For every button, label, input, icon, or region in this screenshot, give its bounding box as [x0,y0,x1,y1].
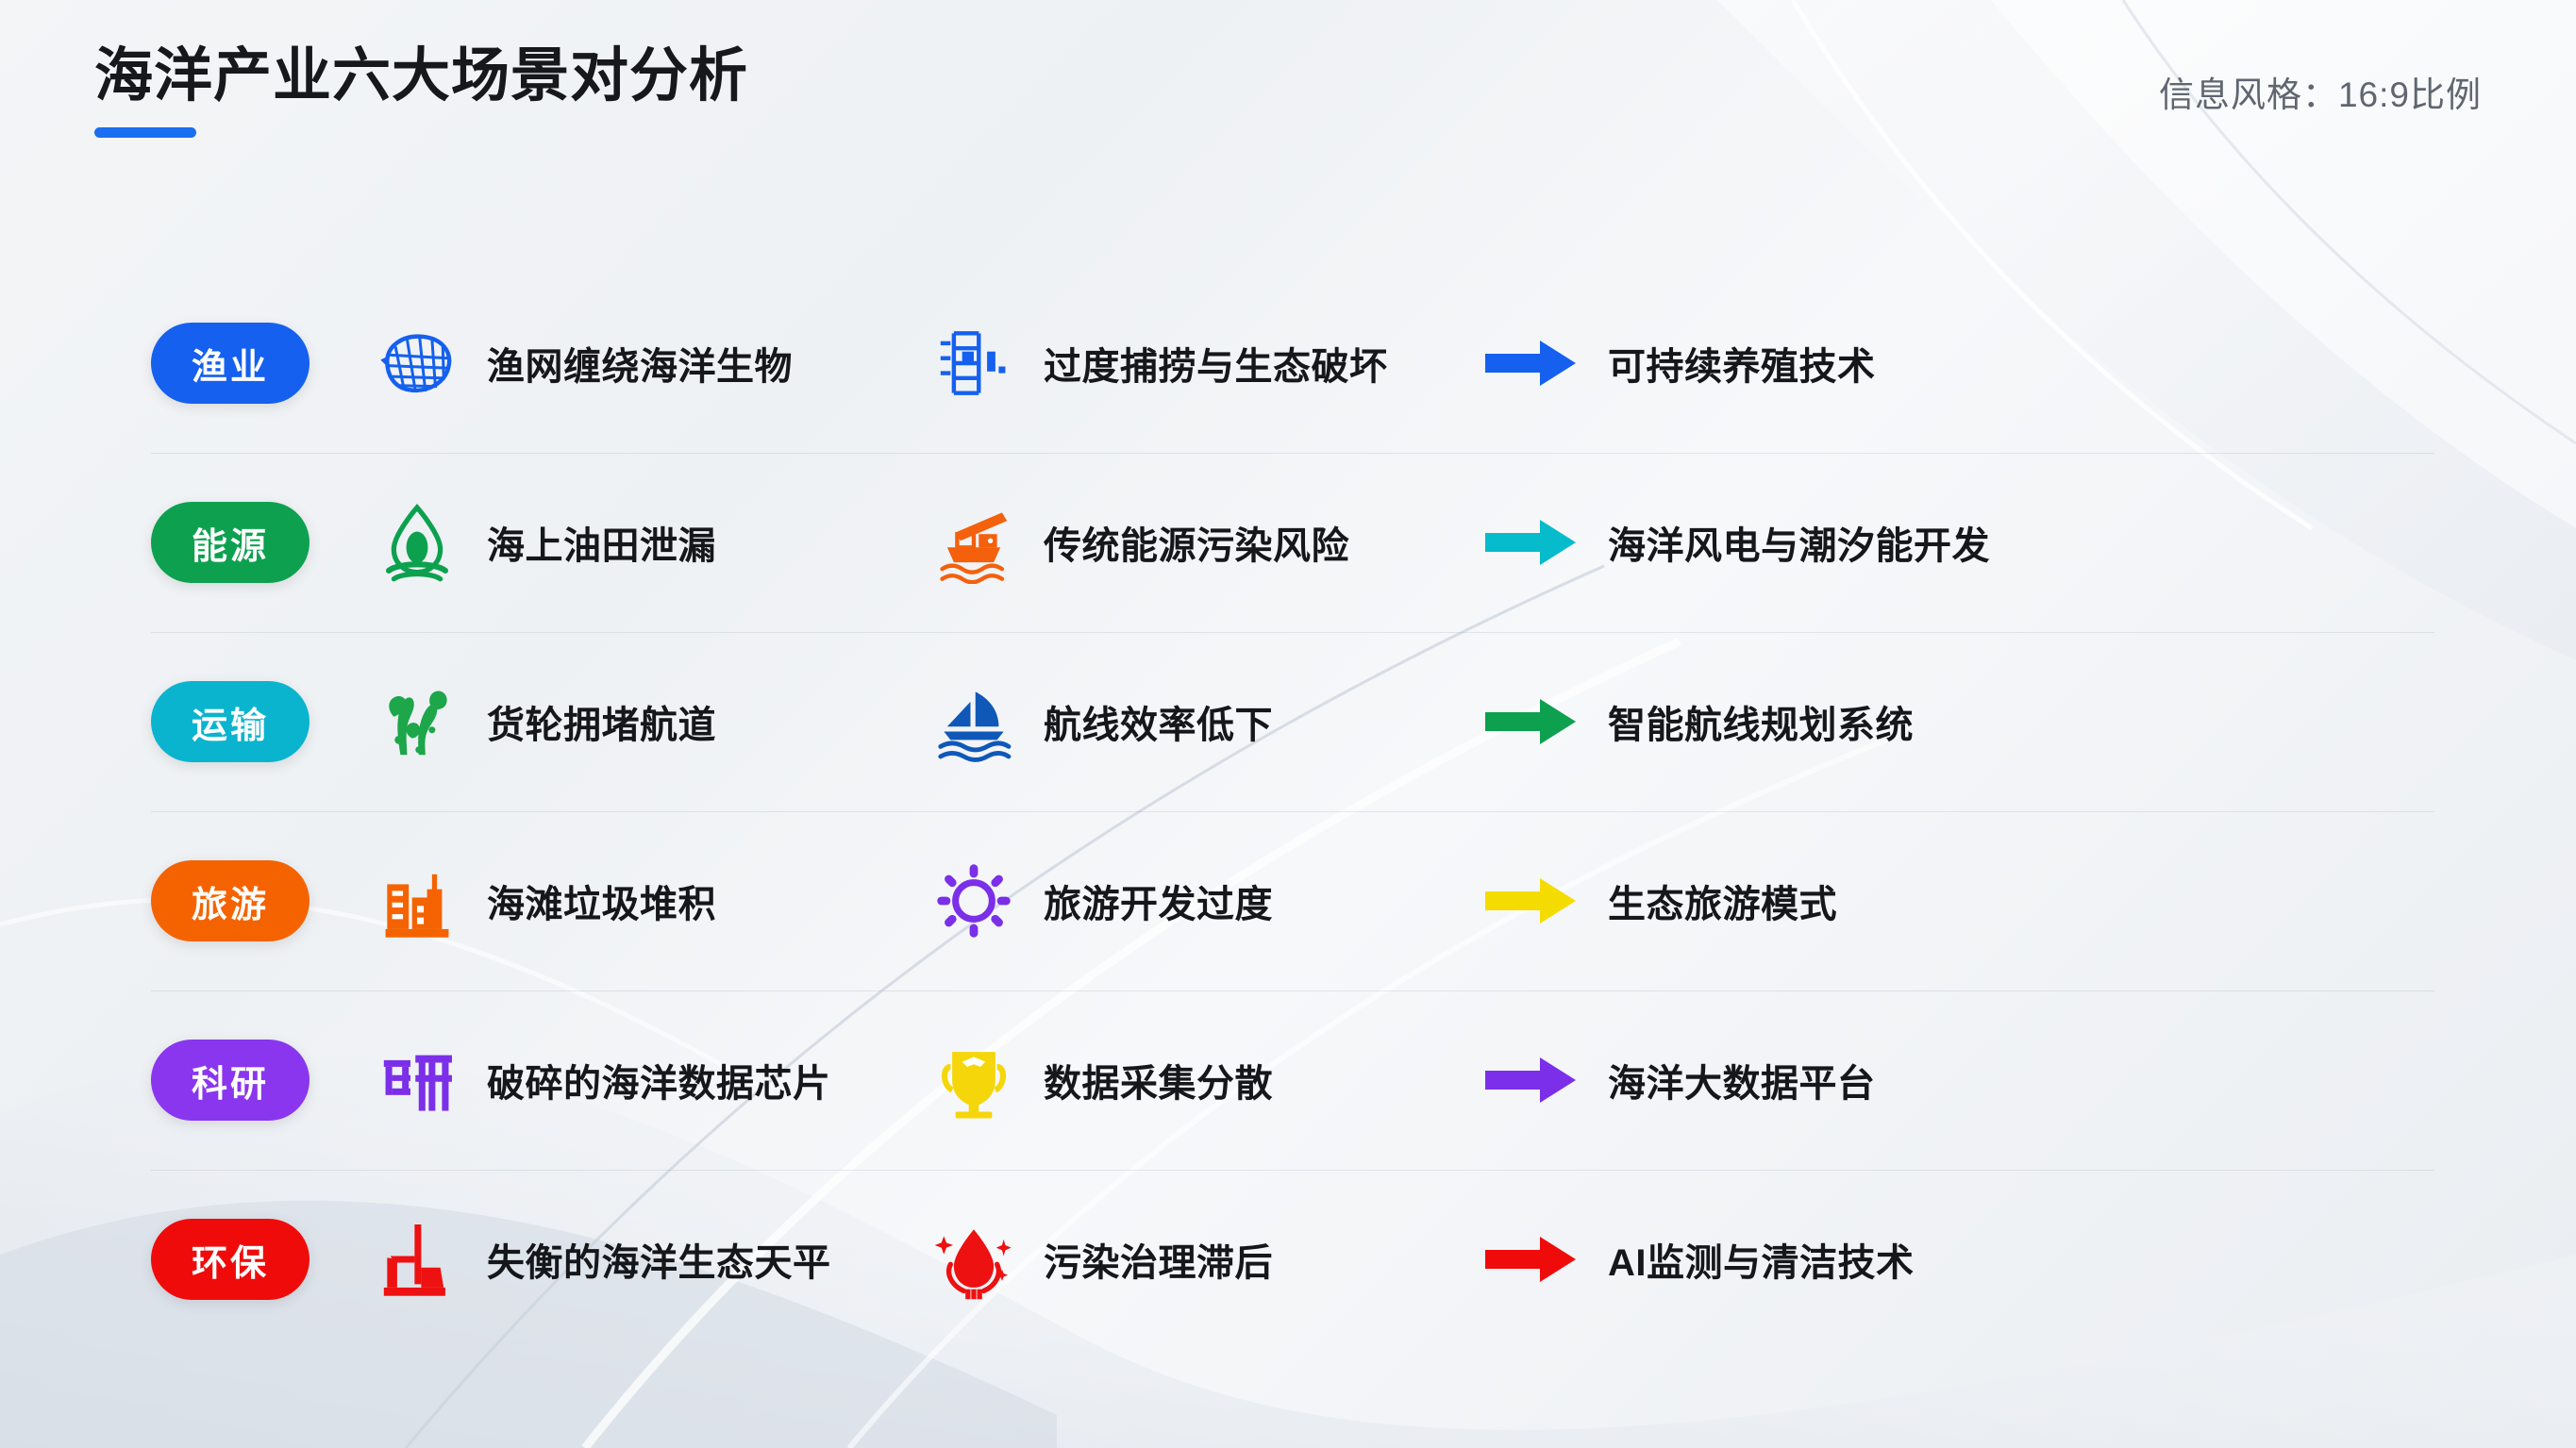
problem-cell: 海上油田泄漏 [374,499,874,586]
category-badge-label: 环保 [192,1234,269,1286]
solution-text: 海洋大数据平台 [1608,1053,1876,1107]
broken-chip-glyph-icon [374,1037,460,1123]
issue-cell: 过度捕捞与生态破坏 [930,320,1430,407]
arrow-right-icon [1485,337,1576,390]
issue-cell: 传统能源污染风险 [930,499,1430,586]
problem-text: 海上油田泄漏 [487,515,716,570]
arrow-right-icon [1485,516,1576,569]
trophy-shield-icon [930,1037,1017,1123]
problem-cell: 海滩垃圾堆积 [374,857,874,944]
issue-cell: 旅游开发过度 [930,857,1430,944]
sun-icon [930,857,1017,944]
scenario-row: 渔业渔网缠绕海洋生物过度捕捞与生态破坏可持续养殖技术 [0,274,2576,453]
category-badge[interactable]: 运输 [151,681,309,762]
category-badge[interactable]: 能源 [151,502,309,583]
category-badge-label: 运输 [192,696,269,748]
scenario-row: 旅游海滩垃圾堆积旅游开发过度生态旅游模式 [0,811,2576,990]
problem-cell: 渔网缠绕海洋生物 [374,320,874,407]
category-badge-label: 渔业 [192,338,269,390]
issue-text: 数据采集分散 [1044,1053,1273,1107]
category-badge[interactable]: 环保 [151,1219,309,1300]
problem-text: 海滩垃圾堆积 [487,874,716,928]
scenario-row: 环保失衡的海洋生态天平污染治理滞后AI监测与清洁技术 [0,1170,2576,1349]
issue-text: 过度捕捞与生态破坏 [1044,336,1388,391]
issue-text: 传统能源污染风险 [1044,515,1349,570]
polluted-droplet-icon [930,1216,1017,1303]
problem-text: 破碎的海洋数据芯片 [487,1053,831,1107]
issue-text: 旅游开发过度 [1044,874,1273,928]
scenario-row: 科研破碎的海洋数据芯片数据采集分散海洋大数据平台 [0,990,2576,1170]
problem-text: 渔网缠绕海洋生物 [487,336,793,391]
category-badge[interactable]: 科研 [151,1040,309,1121]
solution-cell: 智能航线规划系统 [1485,694,1914,749]
issue-cell: 污染治理滞后 [930,1216,1430,1303]
problem-cell: 失衡的海洋生态天平 [374,1216,874,1303]
solution-text: 智能航线规划系统 [1608,694,1914,749]
fishing-net-icon [374,320,460,407]
beach-buildings-icon [374,857,460,944]
arrow-right-icon [1485,874,1576,927]
solution-text: AI监测与清洁技术 [1608,1232,1915,1287]
category-badge-label: 科研 [192,1055,269,1107]
arrow-right-icon [1485,695,1576,748]
issue-text: 污染治理滞后 [1044,1232,1273,1287]
slide-header: 海洋产业六大场景对分析 信息风格：16:9比例 [94,45,2482,177]
sailboat-icon [930,678,1017,765]
page-title: 海洋产业六大场景对分析 [94,45,2482,107]
issue-text: 航线效率低下 [1044,694,1273,749]
scenario-rows: 渔业渔网缠绕海洋生物过度捕捞与生态破坏可持续养殖技术能源海上油田泄漏传统能源污染… [0,274,2576,1349]
issue-cell: 数据采集分散 [930,1037,1430,1123]
unbalanced-scale-icon [374,1216,460,1303]
problem-text: 失衡的海洋生态天平 [487,1232,831,1287]
category-badge-label: 能源 [192,517,269,569]
category-badge[interactable]: 渔业 [151,323,309,404]
solution-cell: 海洋大数据平台 [1485,1053,1876,1107]
solution-text: 可持续养殖技术 [1608,336,1876,391]
problem-cell: 破碎的海洋数据芯片 [374,1037,874,1123]
issue-cell: 航线效率低下 [930,678,1430,765]
category-badge[interactable]: 旅游 [151,860,309,941]
solution-cell: 生态旅游模式 [1485,874,1837,928]
slide-canvas: 海洋产业六大场景对分析 信息风格：16:9比例 渔业渔网缠绕海洋生物过度捕捞与生… [0,0,2576,1448]
ratio-note: 信息风格：16:9比例 [2159,66,2482,117]
solution-cell: 海洋风电与潮汐能开发 [1485,515,1990,570]
solution-cell: 可持续养殖技术 [1485,336,1876,391]
problem-cell: 货轮拥堵航道 [374,678,874,765]
solution-text: 生态旅游模式 [1608,874,1837,928]
oil-rig-boat-icon [930,499,1017,586]
problem-text: 货轮拥堵航道 [487,694,716,749]
title-underline [94,127,196,138]
scenario-row: 运输货轮拥堵航道航线效率低下智能航线规划系统 [0,632,2576,811]
solution-cell: AI监测与清洁技术 [1485,1232,1915,1287]
fish-chart-icon [930,320,1017,407]
arrow-right-icon [1485,1233,1576,1286]
seaweed-icon [374,678,460,765]
category-badge-label: 旅游 [192,875,269,927]
solution-text: 海洋风电与潮汐能开发 [1608,515,1990,570]
scenario-row: 能源海上油田泄漏传统能源污染风险海洋风电与潮汐能开发 [0,453,2576,632]
oil-droplet-icon [374,499,460,586]
arrow-right-icon [1485,1054,1576,1107]
